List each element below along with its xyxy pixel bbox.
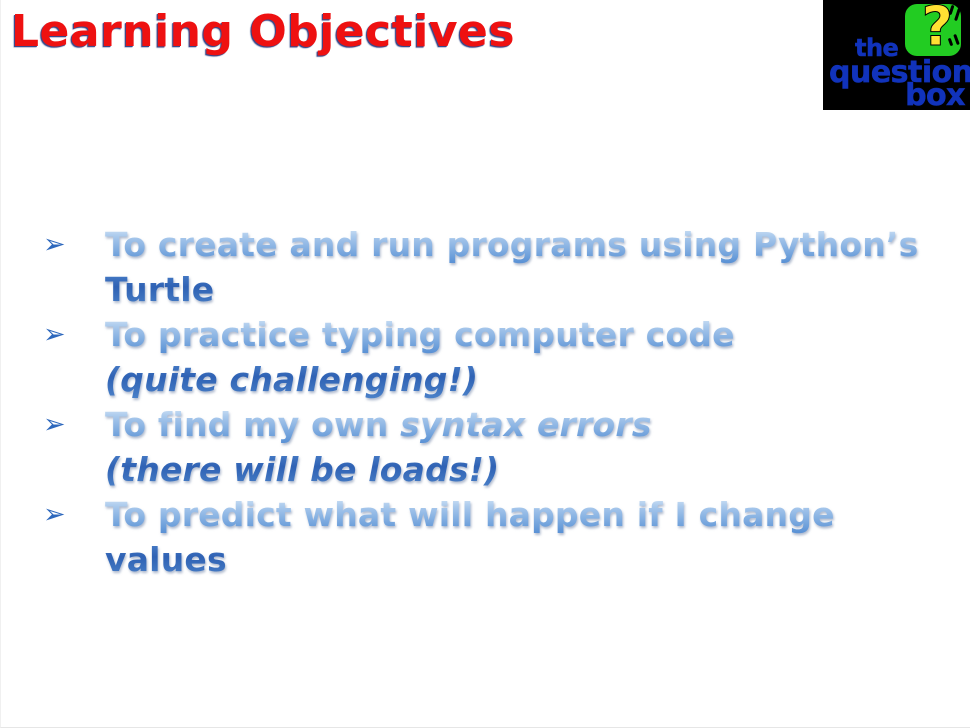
list-item-line2: (quite challenging!): [105, 360, 478, 399]
list-item-line2: Turtle: [105, 270, 214, 309]
list-item-line2: (there will be loads!): [105, 450, 499, 489]
logo-text-box: box: [905, 78, 965, 110]
question-mark-icon: ?: [922, 0, 953, 55]
list-item: ➢ To create and run programs using Pytho…: [43, 222, 943, 312]
list-item-text: To create and run programs using Python’…: [105, 222, 943, 312]
arrow-bullet-icon: ➢: [43, 402, 105, 448]
arrow-bullet-icon: ➢: [43, 312, 105, 358]
arrow-bullet-icon: ➢: [43, 492, 105, 538]
list-item-line1: To predict what will happen if I change: [105, 495, 835, 534]
list-item-line2: values: [105, 540, 227, 579]
slide-canvas: Learning Objectives ? the question box ➢…: [0, 0, 970, 728]
list-item-text: To find my own syntax errors(there will …: [105, 402, 943, 492]
question-box-logo: ? the question box: [823, 0, 970, 110]
list-item-text: To predict what will happen if I changev…: [105, 492, 943, 582]
list-item: ➢ To predict what will happen if I chang…: [43, 492, 943, 582]
list-item-line1: To practice typing computer code: [105, 315, 735, 354]
list-item-line1-emphasis: syntax errors: [400, 405, 652, 444]
arrow-bullet-icon: ➢: [43, 222, 105, 268]
learning-objectives-list: ➢ To create and run programs using Pytho…: [43, 222, 943, 582]
page-title: Learning Objectives: [11, 6, 515, 57]
list-item-text: To practice typing computer code(quite c…: [105, 312, 943, 402]
list-item-line1: To create and run programs using Python’…: [105, 225, 918, 264]
list-item: ➢ To find my own syntax errors(there wil…: [43, 402, 943, 492]
list-item: ➢ To practice typing computer code(quite…: [43, 312, 943, 402]
list-item-line1-prefix: To find my own: [105, 405, 400, 444]
